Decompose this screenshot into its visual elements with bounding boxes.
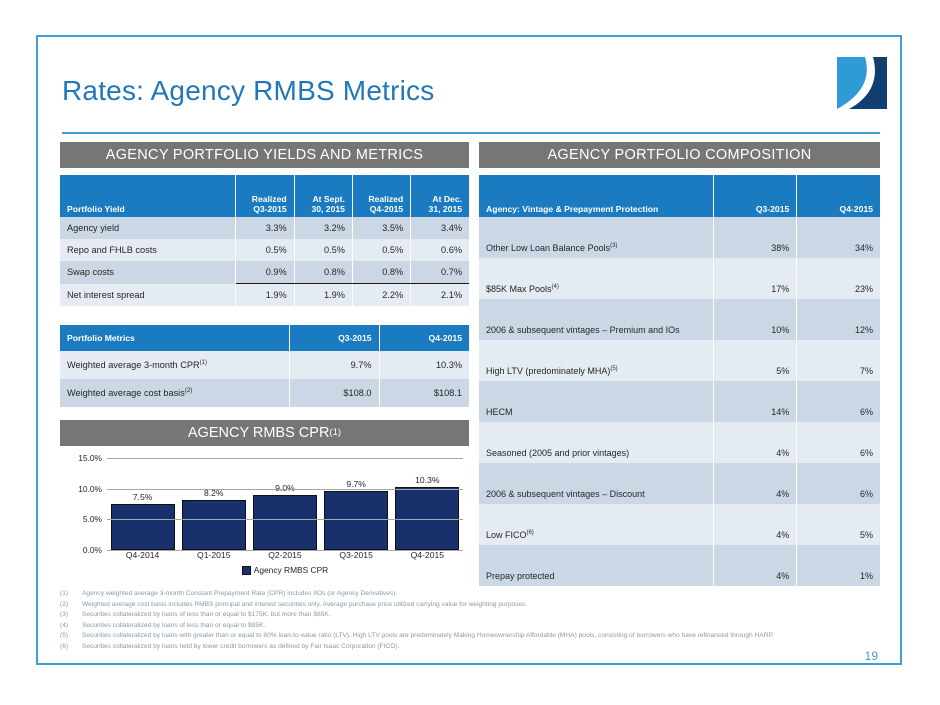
row-value: 23% (797, 258, 880, 299)
chart-bar-cell: 7.5% (111, 458, 175, 550)
footnote-text: Securities collateralized by loans with … (82, 631, 860, 642)
row-label: Prepay protected (479, 545, 714, 586)
row-label: Seasoned (2005 and prior vintages) (479, 422, 714, 463)
chart-bar (253, 495, 317, 550)
agency-rmbs-cpr-chart: AGENCY RMBS CPR(1) 15.0%10.0%5.0%0.0% 7.… (60, 420, 469, 580)
col-header-q4-2015: Q4-2015 (379, 325, 469, 351)
row-value: 1.9% (294, 284, 352, 307)
x-axis-tick-label: Q4-2014 (111, 550, 175, 564)
row-value: 0.8% (352, 261, 410, 284)
footnote-text: Securities collateralized by loans of le… (82, 610, 860, 621)
title-divider (62, 132, 880, 134)
chart-gridline (107, 519, 463, 520)
row-value: 10% (714, 299, 797, 340)
col-header-portfolio-metrics: Portfolio Metrics (60, 325, 289, 351)
row-label: Low FICO(6) (479, 504, 714, 545)
table-header-row: Agency: Vintage & Prepayment Protection … (479, 175, 880, 217)
row-label: HECM (479, 381, 714, 422)
footnote-text: Weighted average cost basis includes RMB… (82, 600, 860, 611)
row-value: 7% (797, 340, 880, 381)
row-value: 0.6% (411, 239, 469, 261)
row-value: 14% (714, 381, 797, 422)
company-logo (837, 57, 887, 109)
row-value: 4% (714, 422, 797, 463)
row-label: Weighted average cost basis(2) (60, 379, 289, 407)
row-value: 0.5% (352, 239, 410, 261)
footnote-text: Agency weighted average 3-month Constant… (82, 589, 860, 600)
footnote-text: Securities collateralized by loans held … (82, 642, 860, 653)
table-row: Repo and FHLB costs0.5%0.5%0.5%0.6% (60, 239, 469, 261)
chart-bars-region: 7.5%8.2%9.0%9.7%10.3% (107, 458, 463, 550)
row-value: 5% (714, 340, 797, 381)
row-value: $108.0 (289, 379, 379, 407)
footnote: (4)Securities collateralized by loans of… (60, 621, 860, 632)
y-axis-tick-label: 0.0% (83, 545, 102, 555)
footnote: (3)Securities collateralized by loans of… (60, 610, 860, 621)
row-label: 2006 & subsequent vintages – Premium and… (479, 299, 714, 340)
chart-plot-area: 15.0%10.0%5.0%0.0% 7.5%8.2%9.0%9.7%10.3%… (60, 446, 469, 580)
row-value: 0.9% (236, 261, 294, 284)
footnote: (1)Agency weighted average 3-month Const… (60, 589, 860, 600)
row-value: 4% (714, 504, 797, 545)
footnote-number: (3) (60, 610, 82, 621)
row-value: 6% (797, 381, 880, 422)
footnote: (6)Securities collateralized by loans he… (60, 642, 860, 653)
x-axis-tick-label: Q4-2015 (395, 550, 459, 564)
chart-x-axis: Q4-2014Q1-2015Q2-2015Q3-2015Q4-2015 (107, 550, 463, 564)
table-row: Seasoned (2005 and prior vintages)4%6% (479, 422, 880, 463)
row-value: 38% (714, 217, 797, 258)
y-axis-tick-label: 15.0% (78, 453, 102, 463)
slide-frame: Rates: Agency RMBS Metrics AGENCY PORTFO… (36, 35, 902, 665)
row-label: Net interest spread (60, 284, 236, 307)
row-value: 1% (797, 545, 880, 586)
row-label: Swap costs (60, 261, 236, 284)
x-axis-tick-label: Q3-2015 (324, 550, 388, 564)
chart-value-label: 9.7% (324, 479, 388, 489)
row-value: 12% (797, 299, 880, 340)
portfolio-composition-table: Agency: Vintage & Prepayment Protection … (479, 175, 880, 586)
row-value: 2.1% (411, 284, 469, 307)
footnote-number: (4) (60, 621, 82, 632)
table-row: HECM14%6% (479, 381, 880, 422)
section-bar-composition: AGENCY PORTFOLIO COMPOSITION (479, 142, 880, 168)
table-row: 2006 & subsequent vintages – Premium and… (479, 299, 880, 340)
table-row: Weighted average cost basis(2)$108.0$108… (60, 379, 469, 407)
table-row: High LTV (predominately MHA)(5)5%7% (479, 340, 880, 381)
row-value: 0.5% (294, 239, 352, 261)
chart-title: AGENCY RMBS CPR(1) (60, 420, 469, 446)
chart-gridline (107, 489, 463, 490)
row-label: 2006 & subsequent vintages – Discount (479, 463, 714, 504)
portfolio-metrics-table: Portfolio Metrics Q3-2015 Q4-2015 Weight… (60, 325, 469, 407)
col-header-at-sept: At Sept. 30, 2015 (294, 175, 352, 217)
row-label: $85K Max Pools(4) (479, 258, 714, 299)
row-value: 10.3% (379, 351, 469, 379)
row-value: 3.3% (236, 217, 294, 239)
table-header-row: Portfolio Yield Realized Q3-2015 At Sept… (60, 175, 469, 217)
chart-bar-group: 7.5%8.2%9.0%9.7%10.3% (107, 458, 463, 550)
x-axis-tick-label: Q2-2015 (253, 550, 317, 564)
chart-value-label: 10.3% (395, 475, 459, 485)
col-header-q3-2015: Q3-2015 (714, 175, 797, 217)
table-row: $85K Max Pools(4)17%23% (479, 258, 880, 299)
row-label: High LTV (predominately MHA)(5) (479, 340, 714, 381)
portfolio-yield-table: Portfolio Yield Realized Q3-2015 At Sept… (60, 175, 469, 306)
row-value: 6% (797, 463, 880, 504)
row-value: 17% (714, 258, 797, 299)
logo-mark (837, 57, 887, 109)
chart-bar-cell: 10.3% (395, 458, 459, 550)
section-bar-yields: AGENCY PORTFOLIO YIELDS AND METRICS (60, 142, 469, 168)
row-value: 0.7% (411, 261, 469, 284)
row-value: 1.9% (236, 284, 294, 307)
table-row: Agency yield3.3%3.2%3.5%3.4% (60, 217, 469, 239)
footnote-text: Securities collateralized by loans of le… (82, 621, 860, 632)
table-row: Low FICO(6)4%5% (479, 504, 880, 545)
chart-bar-cell: 8.2% (182, 458, 246, 550)
footnote-number: (5) (60, 631, 82, 642)
footnote-number: (6) (60, 642, 82, 653)
x-axis-tick-label: Q1-2015 (182, 550, 246, 564)
footnote-number: (1) (60, 589, 82, 600)
table-row: Swap costs0.9%0.8%0.8%0.7% (60, 261, 469, 284)
legend-marker-icon (242, 566, 251, 575)
row-value: 0.5% (236, 239, 294, 261)
col-header-q4-2015: Q4-2015 (797, 175, 880, 217)
row-label: Repo and FHLB costs (60, 239, 236, 261)
y-axis-tick-label: 10.0% (78, 484, 102, 494)
table-row: Prepay protected4%1% (479, 545, 880, 586)
footnote-number: (2) (60, 600, 82, 611)
table-row: Other Low Loan Balance Pools(3)38%34% (479, 217, 880, 258)
col-header-q3-2015: Q3-2015 (289, 325, 379, 351)
table-row: 2006 & subsequent vintages – Discount4%6… (479, 463, 880, 504)
row-value: 34% (797, 217, 880, 258)
row-value: 9.7% (289, 351, 379, 379)
row-value: 4% (714, 545, 797, 586)
footnote: (5)Securities collateralized by loans wi… (60, 631, 860, 642)
y-axis-tick-label: 5.0% (83, 514, 102, 524)
chart-gridline (107, 458, 463, 459)
table-row: Weighted average 3-month CPR(1)9.7%10.3% (60, 351, 469, 379)
row-value: 5% (797, 504, 880, 545)
col-header-portfolio-yield: Portfolio Yield (60, 175, 236, 217)
col-header-realized-q3: Realized Q3-2015 (236, 175, 294, 217)
col-header-at-dec: At Dec. 31, 2015 (411, 175, 469, 217)
legend-label: Agency RMBS CPR (254, 565, 328, 575)
row-label: Agency yield (60, 217, 236, 239)
page-number: 19 (865, 649, 878, 663)
col-header-vintage-prepayment: Agency: Vintage & Prepayment Protection (479, 175, 714, 217)
row-value: 0.8% (294, 261, 352, 284)
row-label: Other Low Loan Balance Pools(3) (479, 217, 714, 258)
chart-bar (111, 504, 175, 550)
chart-bar-cell: 9.7% (324, 458, 388, 550)
row-value: 6% (797, 422, 880, 463)
footnotes: (1)Agency weighted average 3-month Const… (60, 589, 860, 653)
row-value: $108.1 (379, 379, 469, 407)
row-label: Weighted average 3-month CPR(1) (60, 351, 289, 379)
table-row: Net interest spread1.9%1.9%2.2%2.1% (60, 284, 469, 307)
chart-bar (182, 500, 246, 550)
chart-bar-cell: 9.0% (253, 458, 317, 550)
footnote: (2)Weighted average cost basis includes … (60, 600, 860, 611)
row-value: 2.2% (352, 284, 410, 307)
col-header-realized-q4: Realized Q4-2015 (352, 175, 410, 217)
page-title: Rates: Agency RMBS Metrics (62, 75, 434, 107)
row-value: 3.2% (294, 217, 352, 239)
row-value: 4% (714, 463, 797, 504)
row-value: 3.4% (411, 217, 469, 239)
table-header-row: Portfolio Metrics Q3-2015 Q4-2015 (60, 325, 469, 351)
chart-legend: Agency RMBS CPR (107, 565, 463, 575)
chart-value-label: 7.5% (111, 492, 175, 502)
row-value: 3.5% (352, 217, 410, 239)
chart-y-axis: 15.0%10.0%5.0%0.0% (60, 458, 102, 550)
